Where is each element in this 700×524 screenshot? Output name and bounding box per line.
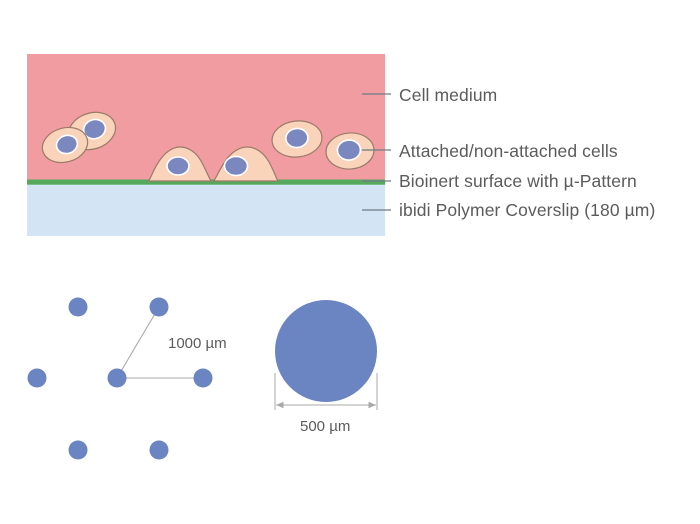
label-bioinert-surface: Bioinert surface with µ-Pattern	[399, 171, 637, 192]
cross-section-block	[27, 54, 385, 236]
single-pattern-dot	[275, 300, 377, 402]
nucleus	[225, 157, 248, 176]
pattern-dot	[150, 441, 169, 460]
pattern-dot-center	[108, 369, 127, 388]
single-dot-diagram	[275, 300, 377, 410]
pattern-dot	[150, 298, 169, 317]
label-cell-medium: Cell medium	[399, 85, 497, 106]
layer-polymer-coverslip	[27, 184, 385, 236]
figure-canvas: Cell medium Attached/non-attached cells …	[0, 0, 700, 524]
nucleus	[337, 139, 361, 161]
label-pattern-spacing: 1000 µm	[168, 335, 227, 352]
nucleus	[167, 157, 189, 175]
pattern-dot	[28, 369, 47, 388]
hexagonal-dot-pattern	[28, 298, 213, 460]
dimension-line-diagonal	[117, 307, 159, 378]
pattern-dot	[69, 441, 88, 460]
diagram-svg	[0, 0, 700, 524]
label-dot-diameter: 500 µm	[300, 418, 350, 435]
label-attached-cells: Attached/non-attached cells	[399, 141, 618, 162]
pattern-dot	[69, 298, 88, 317]
label-polymer-coverslip: ibidi Polymer Coverslip (180 µm)	[399, 200, 655, 221]
pattern-dot	[194, 369, 213, 388]
